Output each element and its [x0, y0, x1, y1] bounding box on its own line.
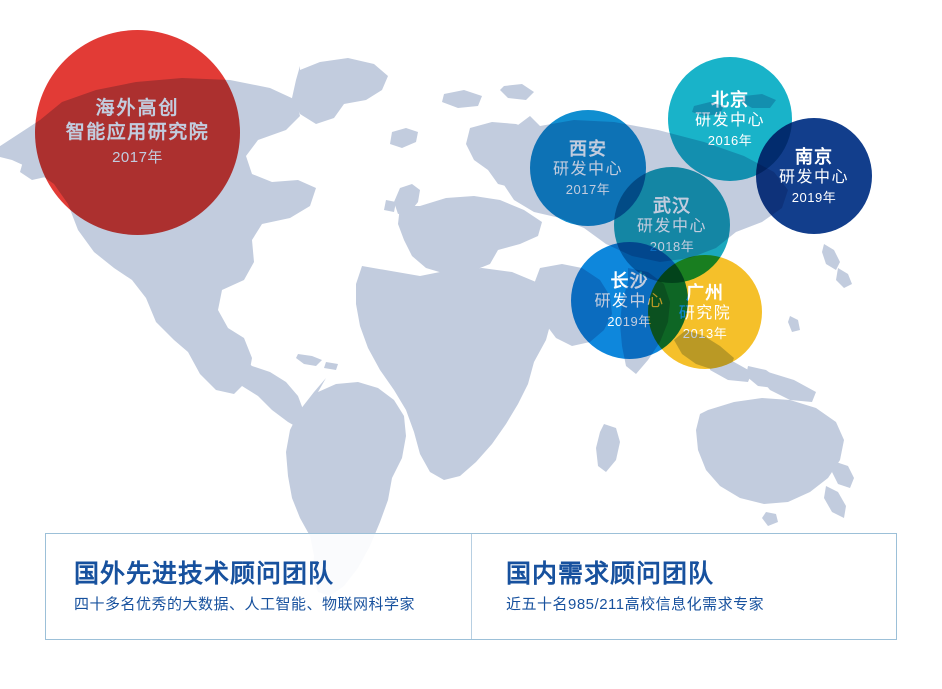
node-beijing-year: 2016年	[708, 134, 752, 149]
node-nanjing-name: 南京	[795, 147, 833, 167]
node-xian-year: 2017年	[566, 183, 610, 198]
node-xian-name: 西安	[569, 139, 607, 159]
node-guangzhou-year: 2013年	[683, 327, 727, 342]
panel-column-overseas: 国外先进技术顾问团队 四十多名优秀的大数据、人工智能、物联网科学家	[46, 534, 471, 639]
node-overseas-name-line2: 智能应用研究院	[66, 122, 210, 143]
node-overseas-name-line1: 海外高创	[95, 98, 179, 119]
panel-right-subtitle: 近五十名985/211高校信息化需求专家	[506, 596, 896, 614]
node-nanjing-subtitle: 研发中心	[779, 169, 849, 187]
node-guangzhou-subtitle: 研究院	[679, 305, 732, 323]
node-beijing-subtitle: 研发中心	[695, 112, 765, 130]
panel-left-title: 国外先进技术顾问团队	[74, 559, 471, 589]
panel-column-domestic: 国内需求顾问团队 近五十名985/211高校信息化需求专家	[471, 534, 896, 639]
infographic-canvas: 海外高创 智能应用研究院 2017年 北京 研发中心 2016年 西安 研发中心…	[0, 0, 942, 689]
node-overseas-year: 2017年	[112, 150, 163, 167]
node-overseas-institute[interactable]: 海外高创 智能应用研究院 2017年	[35, 30, 240, 235]
node-changsha-name: 长沙	[611, 271, 649, 291]
node-wuhan-name: 武汉	[653, 196, 691, 216]
node-xian-subtitle: 研发中心	[553, 161, 623, 179]
node-nanjing[interactable]: 南京 研发中心 2019年	[756, 118, 872, 234]
node-guangzhou-name: 广州	[686, 283, 724, 303]
advisory-teams-panel: 国外先进技术顾问团队 四十多名优秀的大数据、人工智能、物联网科学家 国内需求顾问…	[45, 533, 897, 640]
panel-left-subtitle: 四十多名优秀的大数据、人工智能、物联网科学家	[74, 596, 471, 614]
node-wuhan-subtitle: 研发中心	[637, 218, 707, 236]
panel-right-title: 国内需求顾问团队	[506, 559, 896, 589]
node-guangzhou[interactable]: 广州 研究院 2013年	[648, 255, 762, 369]
node-changsha-year: 2019年	[607, 315, 651, 330]
node-nanjing-year: 2019年	[792, 191, 836, 206]
node-beijing-name: 北京	[711, 90, 749, 110]
